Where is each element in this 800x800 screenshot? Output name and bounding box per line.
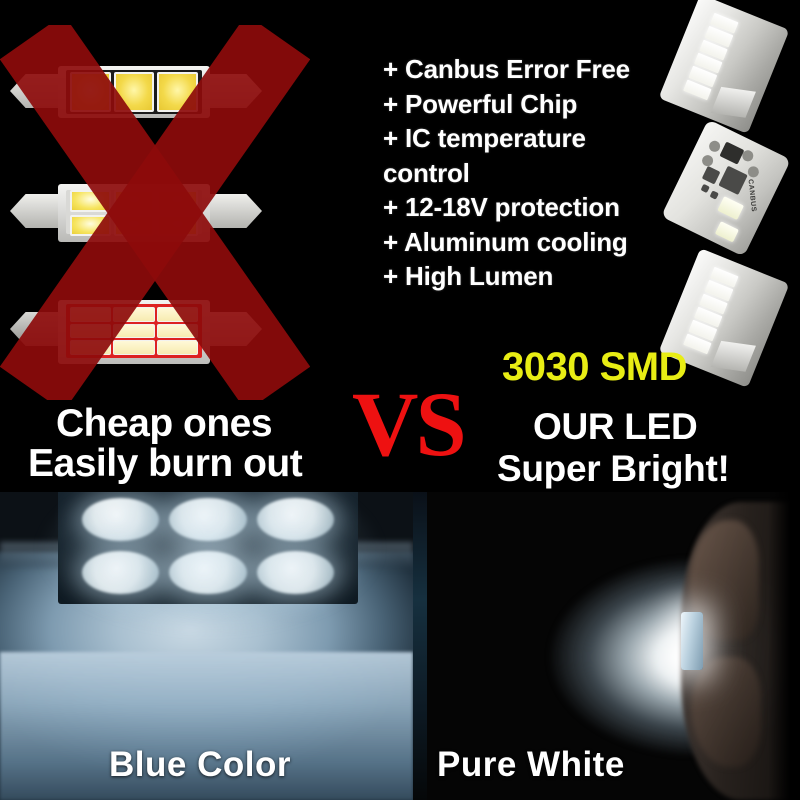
top-comparison-section: + Canbus Error Free + Powerful Chip + IC… — [0, 0, 800, 492]
bulb-end-cap-left — [10, 312, 62, 346]
bulb-end-cap-right — [210, 194, 262, 228]
our-headline-line1: OUR LED — [533, 406, 697, 448]
bulb-end-cap-right — [210, 312, 262, 346]
blue-glow-haze — [40, 492, 380, 632]
smd-badge: 3030 SMD — [502, 345, 687, 390]
feature-item: + Canbus Error Free — [383, 52, 683, 87]
cheap-headline-line1: Cheap ones — [56, 402, 272, 446]
caption-blue-color: Blue Color — [109, 745, 291, 785]
lit-white-led-bulb — [681, 612, 703, 670]
feature-list: + Canbus Error Free + Powerful Chip + IC… — [383, 52, 683, 294]
photo-right-edge-shadow — [768, 492, 800, 800]
cheap-festoon-bulb-1 — [10, 60, 266, 124]
bulb-end-cap-left — [10, 74, 62, 108]
bulb-smd-chips — [70, 72, 198, 112]
infographic-canvas: + Canbus Error Free + Powerful Chip + IC… — [0, 0, 800, 800]
photo-left-edge-strip — [413, 492, 427, 800]
feature-item: + Aluminum cooling — [383, 225, 683, 260]
feature-item: + IC temperature — [383, 121, 683, 156]
our-headline-line2: Super Bright! — [497, 448, 729, 490]
cheap-festoon-bulb-2 — [10, 180, 266, 250]
cheap-headline-line2: Easily burn out — [28, 442, 302, 486]
feature-item: + 12-18V protection — [383, 190, 683, 225]
feature-item: + Powerful Chip — [383, 87, 683, 122]
bulb-end-cap-left — [10, 194, 62, 228]
cheap-festoon-bulb-3 — [10, 298, 266, 374]
feature-item: control — [383, 156, 683, 191]
caption-pure-white: Pure White — [437, 745, 625, 785]
vs-divider-label: VS — [352, 378, 464, 470]
bulb-smd-chips — [70, 307, 198, 355]
bulb-smd-chips — [70, 190, 198, 236]
bulb-end-cap-right — [210, 74, 262, 108]
feature-item: + High Lumen — [383, 259, 683, 294]
